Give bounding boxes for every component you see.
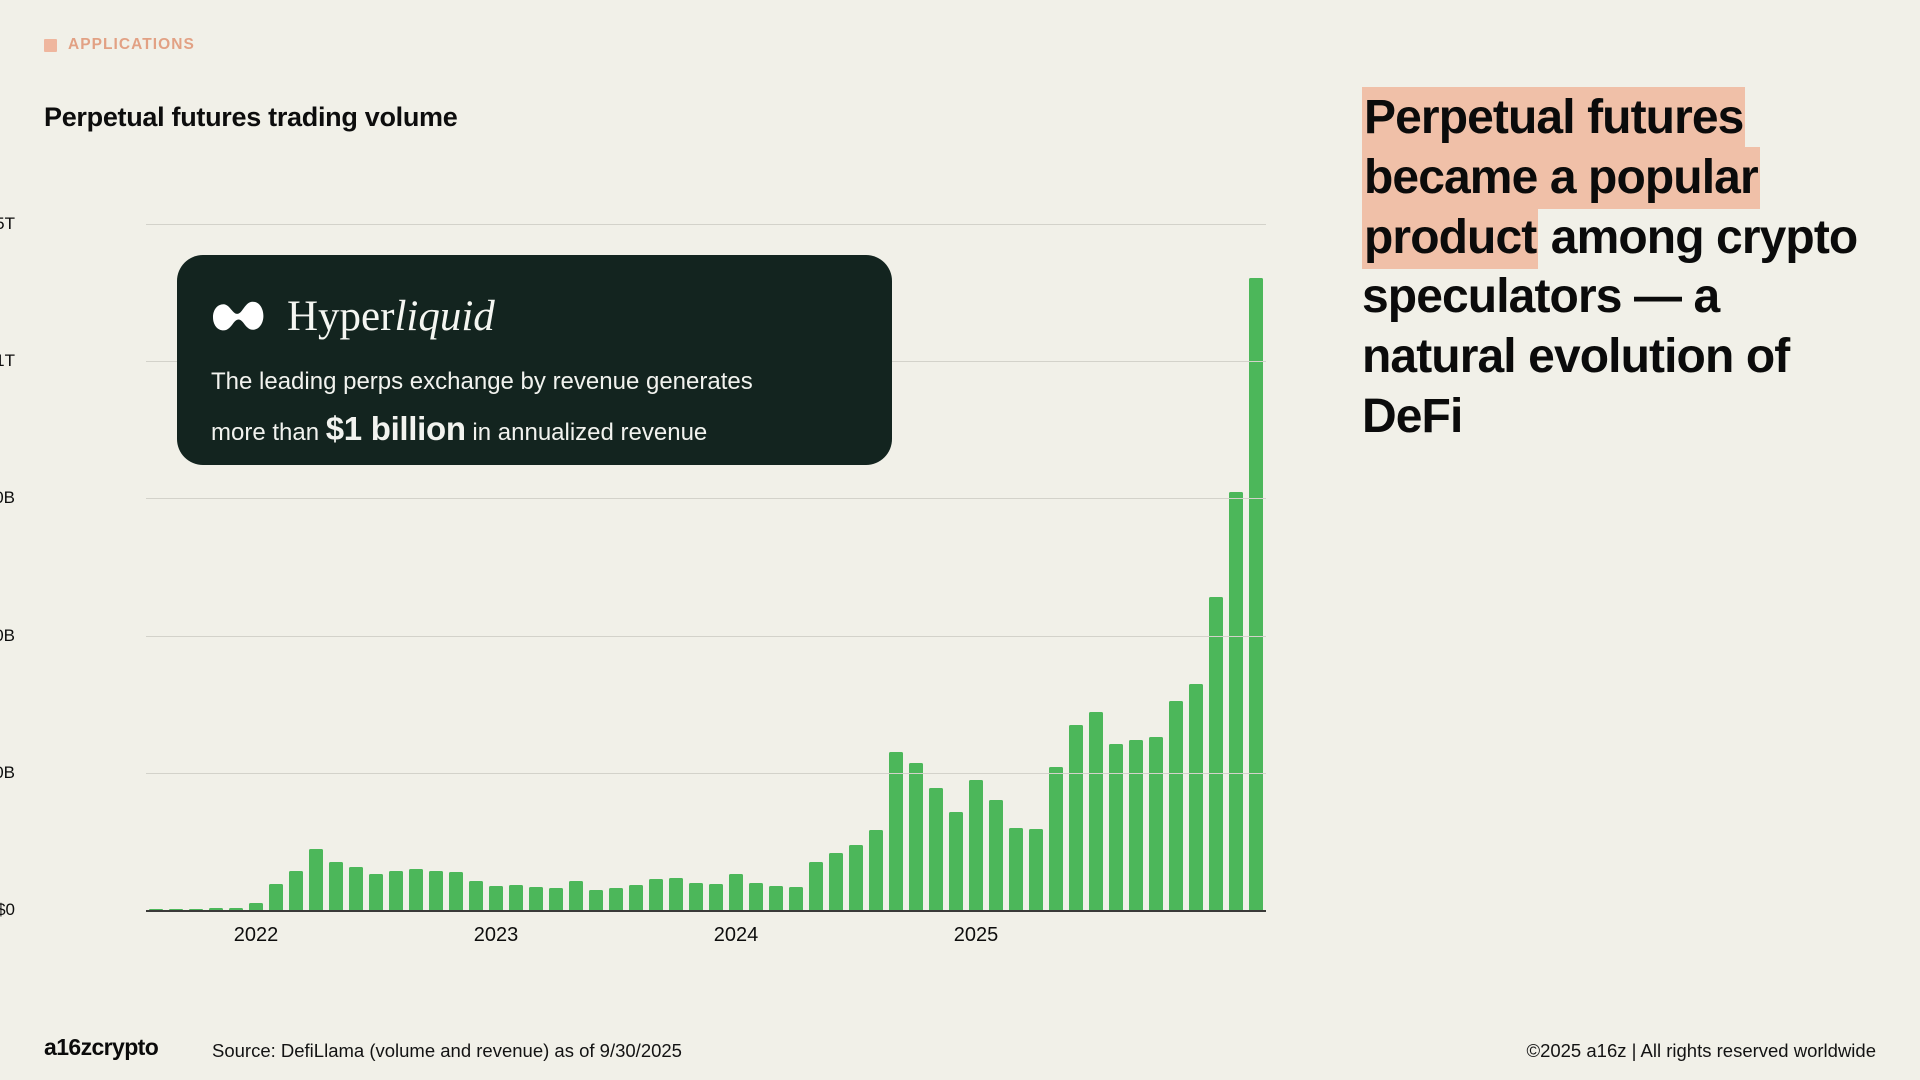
bar: [809, 862, 822, 910]
bar: [509, 885, 522, 910]
callout-line2-pre: more than: [211, 419, 326, 446]
bar: [1069, 725, 1082, 910]
bar: [349, 867, 362, 910]
brand-regular: Hyper: [287, 293, 394, 340]
bar: [1109, 744, 1122, 910]
x-axis-tick-label: 2025: [954, 924, 999, 947]
bar: [829, 853, 842, 910]
bar: [389, 871, 402, 911]
gridline: [146, 773, 1266, 774]
bar: [749, 883, 762, 910]
bar: [369, 874, 382, 910]
x-axis-tick-label: 2023: [474, 924, 519, 947]
y-axis-tick-label: $250B: [0, 763, 15, 783]
bar: [589, 890, 602, 910]
x-axis-tick-label: 2024: [714, 924, 759, 947]
gridline: [146, 636, 1266, 637]
a16zcrypto-logo: a16zcrypto: [44, 1035, 189, 1061]
headline: Perpetual futures became a popular produ…: [1362, 88, 1882, 447]
chart-area: $0$250B$500B$750B$1T$1.25T 2022202320242…: [0, 0, 1300, 980]
bar: [1089, 712, 1102, 910]
callout-line-2: more than $1 billion in annualized reven…: [211, 402, 858, 455]
bar: [709, 884, 722, 910]
y-axis-tick-label: $1T: [0, 351, 15, 371]
hyperliquid-logo-icon: [211, 295, 267, 337]
bar: [1129, 740, 1142, 910]
bar: [669, 878, 682, 910]
bar: [1009, 828, 1022, 910]
copyright-note: ©2025 a16z | All rights reserved worldwi…: [1526, 1040, 1876, 1062]
bar: [1189, 684, 1202, 910]
bar: [769, 886, 782, 910]
bar: [989, 800, 1002, 910]
hyperliquid-wordmark: Hyperliquid: [287, 295, 495, 338]
bar: [869, 830, 882, 910]
bar: [549, 888, 562, 910]
bar: [1029, 829, 1042, 910]
svg-text:a16zcrypto: a16zcrypto: [44, 1035, 159, 1060]
bar: [269, 884, 282, 910]
callout-metric: $1 billion: [326, 410, 466, 447]
bar: [949, 812, 962, 910]
x-axis-line: [146, 910, 1266, 912]
gridline: [146, 224, 1266, 225]
callout-line-1: The leading perps exchange by revenue ge…: [211, 363, 858, 402]
bar: [889, 752, 902, 910]
bar: [469, 881, 482, 910]
infographic-root: APPLICATIONS Perpetual futures trading v…: [0, 0, 1920, 1080]
bar: [529, 887, 542, 910]
source-note: Source: DefiLlama (volume and revenue) a…: [212, 1040, 682, 1062]
bar: [689, 883, 702, 910]
bar: [489, 886, 502, 910]
bar: [609, 888, 622, 910]
bar: [1249, 278, 1262, 910]
bar: [429, 871, 442, 911]
gridline: [146, 498, 1266, 499]
bar: [1229, 492, 1242, 910]
bar: [1169, 701, 1182, 910]
bar: [249, 903, 262, 910]
bar: [1209, 597, 1222, 910]
bar: [789, 887, 802, 910]
bar: [1149, 737, 1162, 910]
bar: [629, 885, 642, 910]
bar: [929, 788, 942, 910]
bar: [309, 849, 322, 910]
bar: [569, 881, 582, 910]
bar: [909, 763, 922, 910]
y-axis-tick-label: $500B: [0, 626, 15, 646]
bar: [849, 845, 862, 910]
callout-body: The leading perps exchange by revenue ge…: [211, 363, 858, 455]
bar: [409, 869, 422, 910]
hyperliquid-brand: Hyperliquid: [211, 285, 858, 347]
bar: [449, 872, 462, 910]
bar: [289, 871, 302, 911]
y-axis-tick-label: $0: [0, 900, 15, 920]
x-axis-tick-label: 2022: [234, 924, 279, 947]
brand-italic: liquid: [394, 293, 494, 340]
callout-line2-post: in annualized revenue: [466, 419, 708, 446]
bar: [649, 879, 662, 910]
bar: [329, 862, 342, 910]
y-axis-tick-label: $1.25T: [0, 214, 15, 234]
bar: [1049, 767, 1062, 910]
hyperliquid-callout-card: Hyperliquid The leading perps exchange b…: [177, 255, 892, 465]
bar: [729, 874, 742, 910]
y-axis-tick-label: $750B: [0, 488, 15, 508]
bar: [969, 780, 982, 910]
